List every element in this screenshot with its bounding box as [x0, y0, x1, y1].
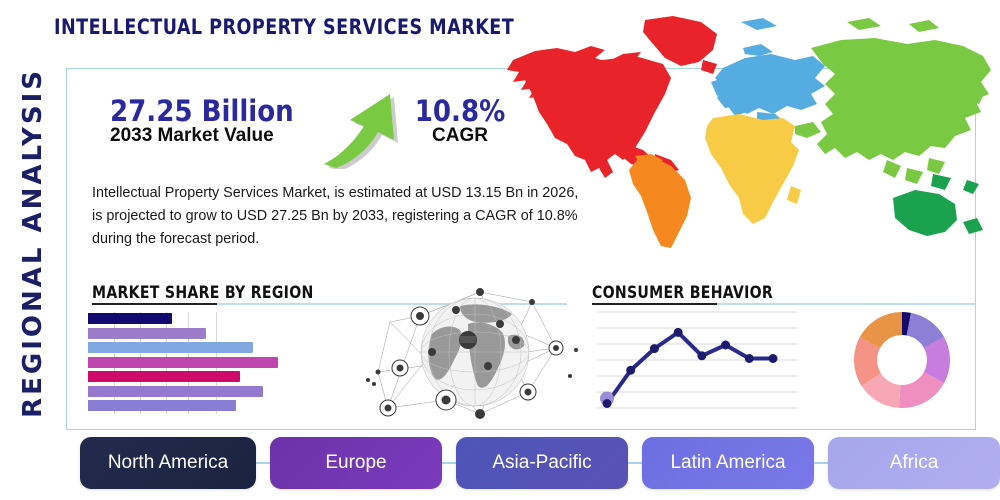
growth-arrow-icon [320, 84, 415, 169]
bar-fill [88, 371, 240, 382]
market-share-rule-dark [92, 303, 217, 305]
region-pill-label: Asia-Pacific [492, 452, 591, 474]
bar-chart-bar [88, 313, 172, 324]
bar-chart-bar [88, 342, 253, 353]
region-pill-label: Latin America [670, 452, 785, 474]
bar-chart-bar [88, 371, 240, 382]
line-chart-marker [697, 351, 706, 360]
bar-fill [88, 400, 236, 411]
key-stats: 27.25 Billion 2033 Market Value 10.8% CA… [110, 92, 510, 172]
region-pill-label: Europe [325, 452, 386, 474]
region-pill-label: North America [108, 452, 228, 474]
line-chart-marker [626, 366, 635, 375]
global-network-icon [360, 280, 590, 420]
region-pill-latin-america[interactable]: Latin America [642, 437, 814, 489]
market-value-stat: 27.25 Billion 2033 Market Value [110, 96, 294, 147]
bar-fill [88, 328, 206, 339]
consumer-behavior-heading: CONSUMER BEHAVIOR [592, 283, 773, 302]
bar-chart-bar [88, 386, 263, 397]
market-value-label: 2033 Market Value [110, 126, 294, 147]
region-pill-europe[interactable]: Europe [270, 437, 442, 489]
line-chart-marker [674, 328, 683, 337]
side-label-text: REGIONAL ANALYSIS [18, 68, 48, 418]
bar-chart-bar [88, 400, 236, 411]
consumer-behavior-line-chart [597, 306, 797, 416]
region-pill-africa[interactable]: Africa [828, 437, 1000, 489]
bar-fill [88, 386, 263, 397]
market-description: Intellectual Property Services Market, i… [92, 182, 592, 250]
bar-fill [88, 313, 172, 324]
regional-analysis-side-label: REGIONAL ANALYSIS [10, 48, 56, 438]
line-chart-marker [745, 354, 754, 363]
market-value-number: 27.25 Billion [110, 96, 294, 126]
line-chart-marker [721, 341, 730, 350]
region-pill-north-america[interactable]: North America [80, 437, 256, 489]
market-share-heading: MARKET SHARE BY REGION [92, 283, 314, 302]
segment-donut-chart [852, 310, 952, 410]
region-pill-label: Africa [890, 452, 939, 474]
region-connector [628, 462, 642, 463]
page-title: INTELLECTUAL PROPERTY SERVICES MARKET [54, 15, 514, 39]
line-chart-marker [603, 399, 612, 408]
bar-chart-bar [88, 328, 206, 339]
market-share-bar-chart [88, 312, 338, 414]
consumer-behavior-rule-dark [592, 303, 717, 305]
region-pill-bar: North AmericaEuropeAsia-PacificLatin Ame… [80, 437, 990, 489]
donut-chart-svg [852, 310, 952, 410]
line-chart-marker [769, 354, 778, 363]
bar-fill [88, 357, 278, 368]
region-pill-asia-pacific[interactable]: Asia-Pacific [456, 437, 628, 489]
cagr-label: CAGR [410, 126, 510, 147]
bar-fill [88, 342, 253, 353]
region-connector [256, 462, 270, 463]
line-chart-svg [597, 306, 797, 416]
line-chart-marker [650, 344, 659, 353]
cagr-number: 10.8% [410, 96, 510, 126]
consumer-behavior-rule-light [717, 303, 975, 305]
bar-chart-bar [88, 357, 278, 368]
region-connector [442, 462, 456, 463]
cagr-stat: 10.8% CAGR [410, 96, 510, 147]
region-connector [814, 462, 828, 463]
